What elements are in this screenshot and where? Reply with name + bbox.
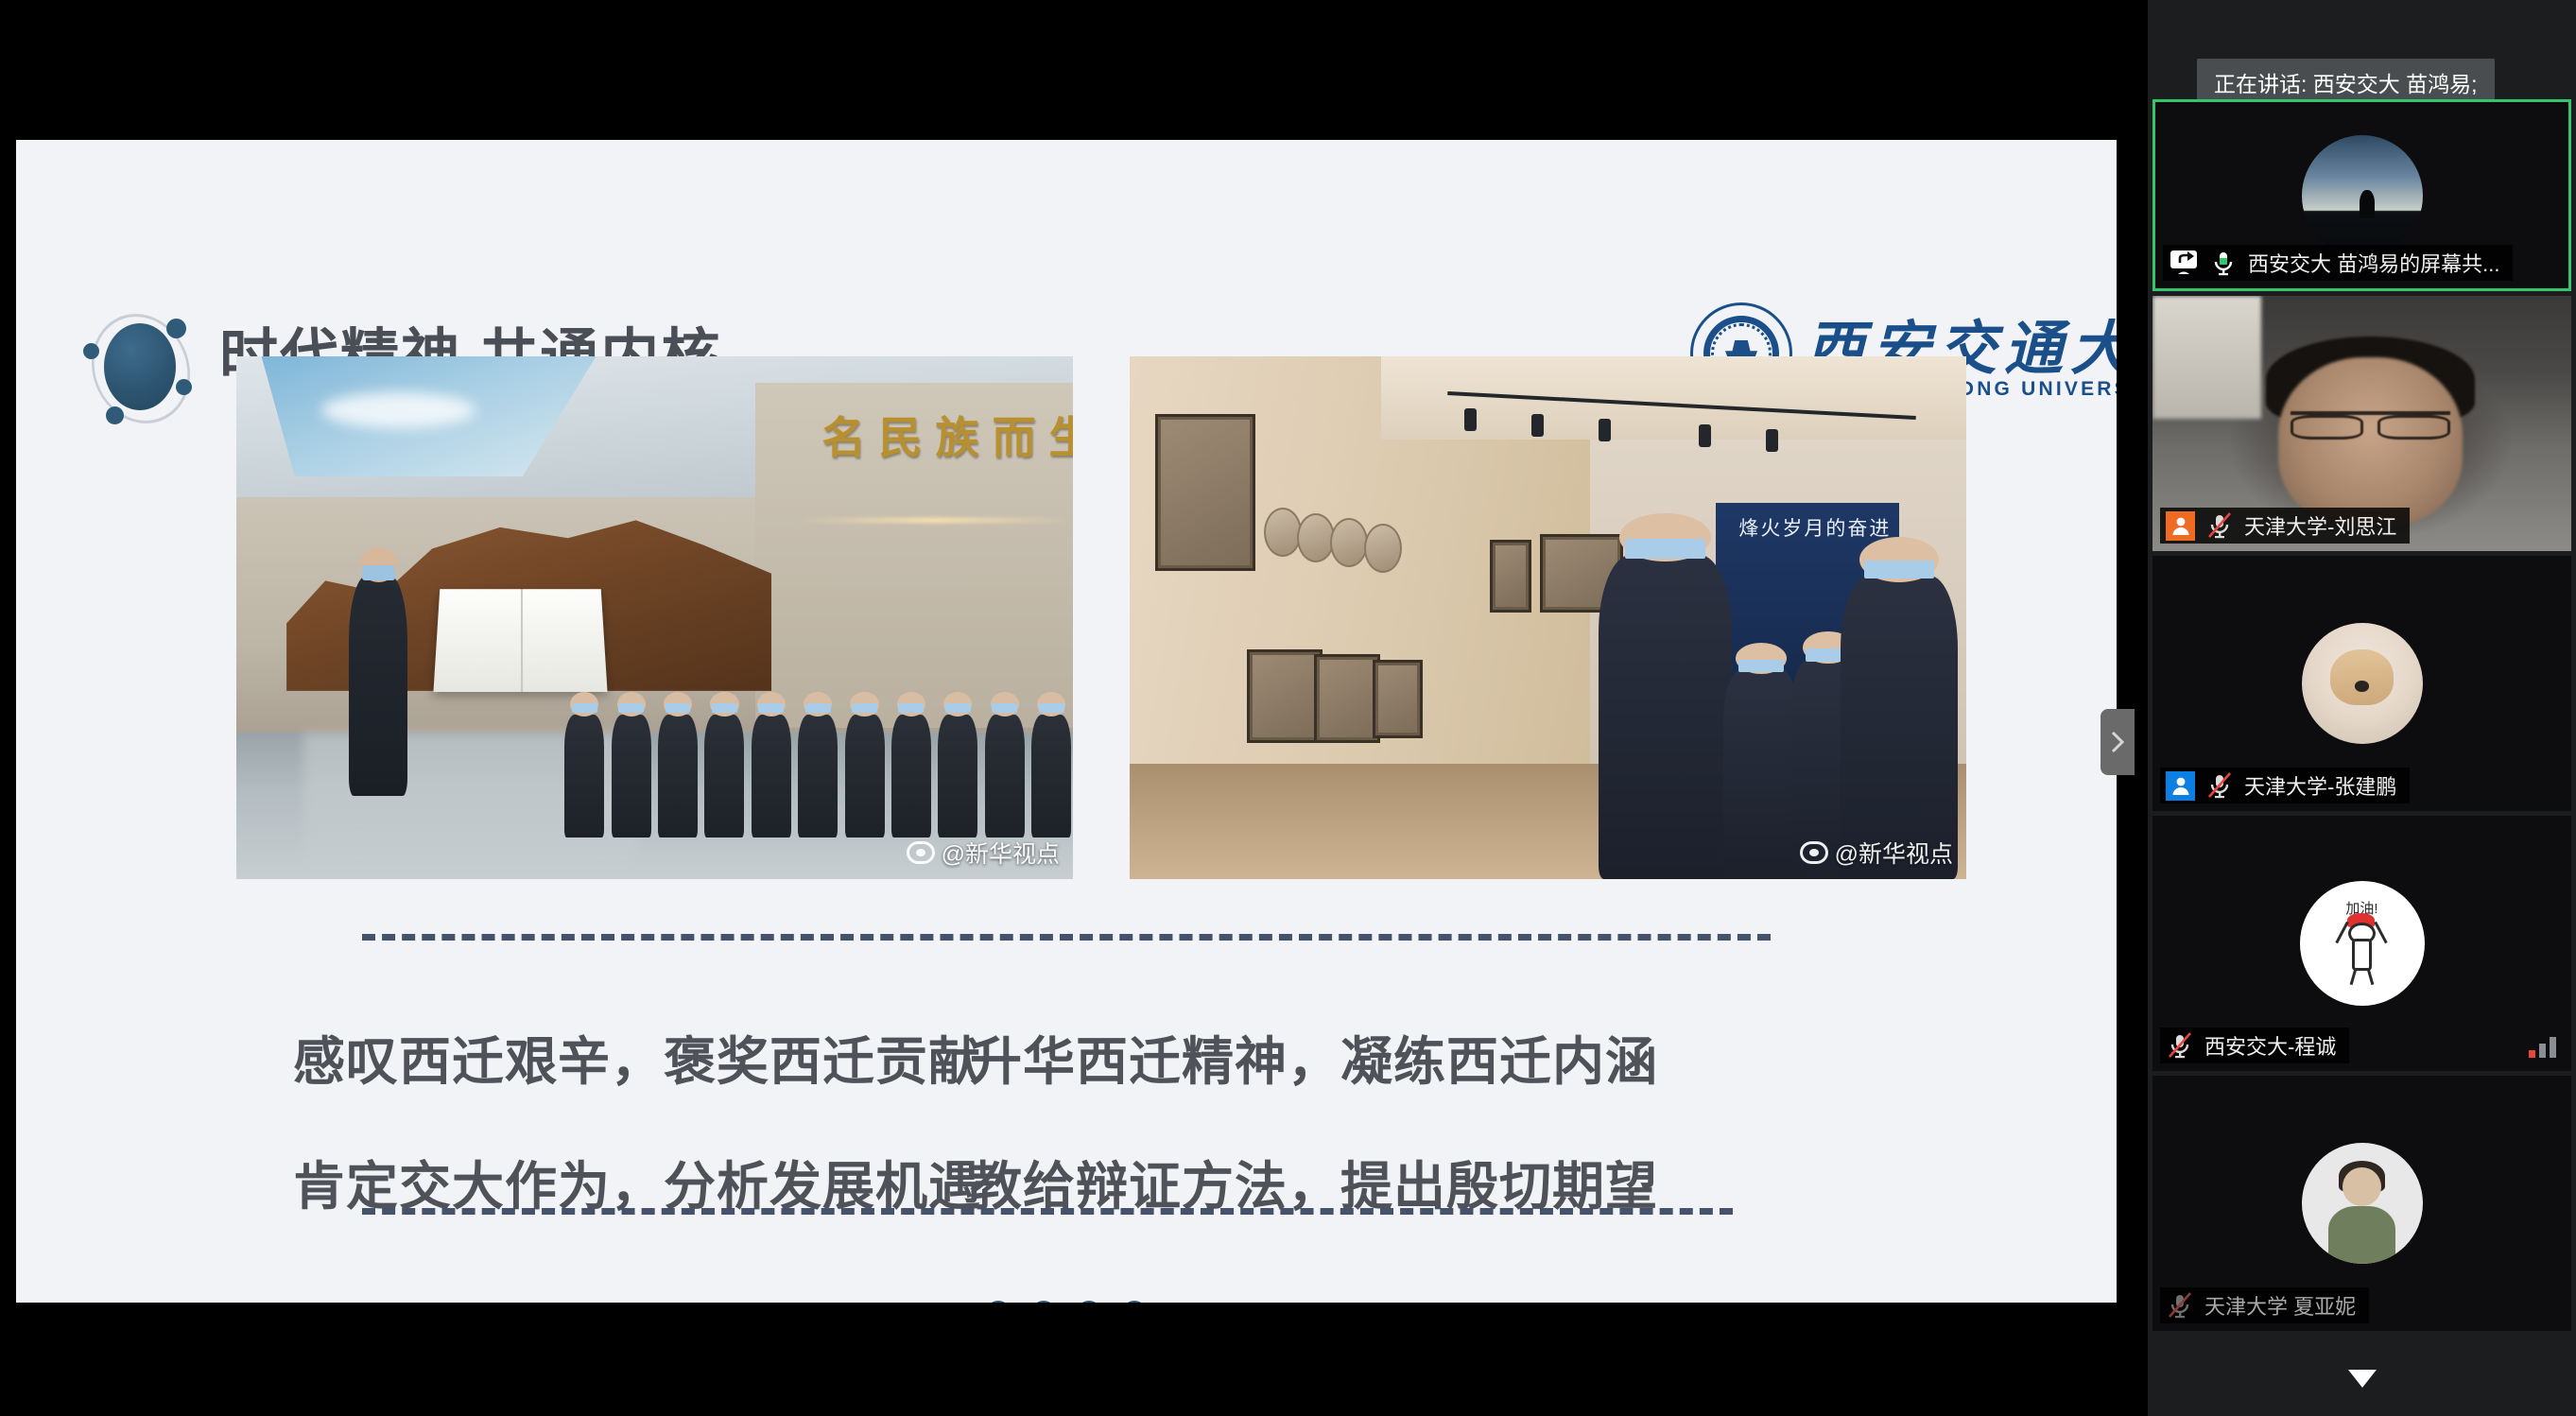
participant-tile-screen-share[interactable]: 西安交大 苗鸿易的屏幕共...	[2152, 99, 2571, 291]
microphone-muted-icon	[2205, 511, 2234, 540]
participant-name: 天津大学 夏亚妮	[2204, 1290, 2356, 1321]
dashed-separator-top	[362, 934, 1771, 941]
participant-tile-2[interactable]: 天津大学-张建鹏	[2152, 556, 2571, 811]
participant-strip: 正在讲话: 西安交大 苗鸿易;	[2148, 0, 2576, 1416]
pagination-dot-4[interactable]	[1122, 1301, 1147, 1303]
screen-share-icon	[2169, 250, 2199, 276]
orbit-decoration-icon	[85, 313, 197, 424]
chevron-right-icon	[2109, 728, 2126, 756]
weibo-icon	[907, 841, 935, 864]
participant-name: 天津大学-刘思江	[2244, 510, 2396, 541]
participant-name: 西安交大-程诚	[2204, 1030, 2336, 1061]
avatar: 加油!	[2300, 881, 2425, 1006]
avatar	[2302, 135, 2423, 256]
microphone-unmuted-icon	[2209, 249, 2238, 277]
avatar	[2302, 1143, 2423, 1264]
slide-header: 时代精神 共通内核 西安交通大学 XI'AN JIAOTONG UNIVERSI…	[16, 140, 2117, 319]
statement-2: 升华西迁精神，凝练西迁内涵	[970, 1019, 1658, 1095]
participant-name-bar: 天津大学-刘思江	[2160, 508, 2410, 544]
participant-name: 西安交大 苗鸿易的屏幕共...	[2248, 248, 2499, 278]
avatar-chip-icon	[2166, 511, 2195, 541]
participant-name: 天津大学-张建鹏	[2244, 770, 2396, 801]
panel-collapse-handle[interactable]	[2101, 709, 2135, 775]
statement-1: 感叹西迁艰辛，褒奖西迁贡献	[293, 1019, 981, 1095]
shared-screen-stage: 时代精神 共通内核 西安交通大学 XI'AN JIAOTONG UNIVERSI…	[0, 0, 2148, 1416]
avatar-chip-icon	[2166, 771, 2195, 801]
microphone-muted-icon	[2166, 1031, 2194, 1060]
dashed-separator-bottom	[362, 1208, 1733, 1215]
participant-name-bar: 天津大学-张建鹏	[2160, 768, 2410, 803]
zoom-meeting-window: 时代精神 共通内核 西安交通大学 XI'AN JIAOTONG UNIVERSI…	[0, 0, 2576, 1416]
seated-attendees	[554, 602, 1073, 853]
pagination-dot-1[interactable]	[986, 1301, 1011, 1303]
pagination-dot-2[interactable]	[1031, 1301, 1056, 1303]
photo-watermark: @新华视点	[1800, 836, 1953, 870]
microphone-muted-icon	[2205, 771, 2234, 800]
scroll-down-button[interactable]	[2343, 1366, 2381, 1395]
presentation-slide: 时代精神 共通内核 西安交通大学 XI'AN JIAOTONG UNIVERSI…	[16, 140, 2117, 1303]
watermark-text: @新华视点	[942, 836, 1060, 870]
chevron-down-icon	[2343, 1366, 2381, 1390]
participant-name-bar: 西安交大-程诚	[2160, 1027, 2349, 1063]
participant-tile-1[interactable]: 天津大学-刘思江	[2152, 296, 2571, 551]
photo-wall-text: 名民族而生	[822, 404, 1074, 466]
participant-tile-4[interactable]: 天津大学 夏亚妮	[2152, 1076, 2571, 1331]
weibo-icon	[1800, 841, 1828, 864]
network-quality-icon	[2529, 1037, 2556, 1058]
participant-tile-3[interactable]: 加油!	[2152, 816, 2571, 1071]
photo-panel-text: 烽火岁月的奋进	[1738, 513, 1891, 542]
microphone-muted-icon	[2166, 1291, 2194, 1320]
museum-hall-photo: 名民族而生	[236, 356, 1073, 879]
watermark-text: @新华视点	[1835, 836, 1953, 870]
avatar	[2302, 623, 2423, 744]
participant-name-bar: 天津大学 夏亚妮	[2160, 1287, 2369, 1323]
exhibition-corridor-photo: 烽火岁月的奋进 @新华视点	[1130, 356, 1966, 879]
photo-watermark: @新华视点	[907, 836, 1060, 870]
slide-pagination	[986, 1301, 1147, 1303]
pagination-dot-3[interactable]	[1077, 1301, 1101, 1303]
participant-name-bar: 西安交大 苗鸿易的屏幕共...	[2163, 245, 2513, 281]
